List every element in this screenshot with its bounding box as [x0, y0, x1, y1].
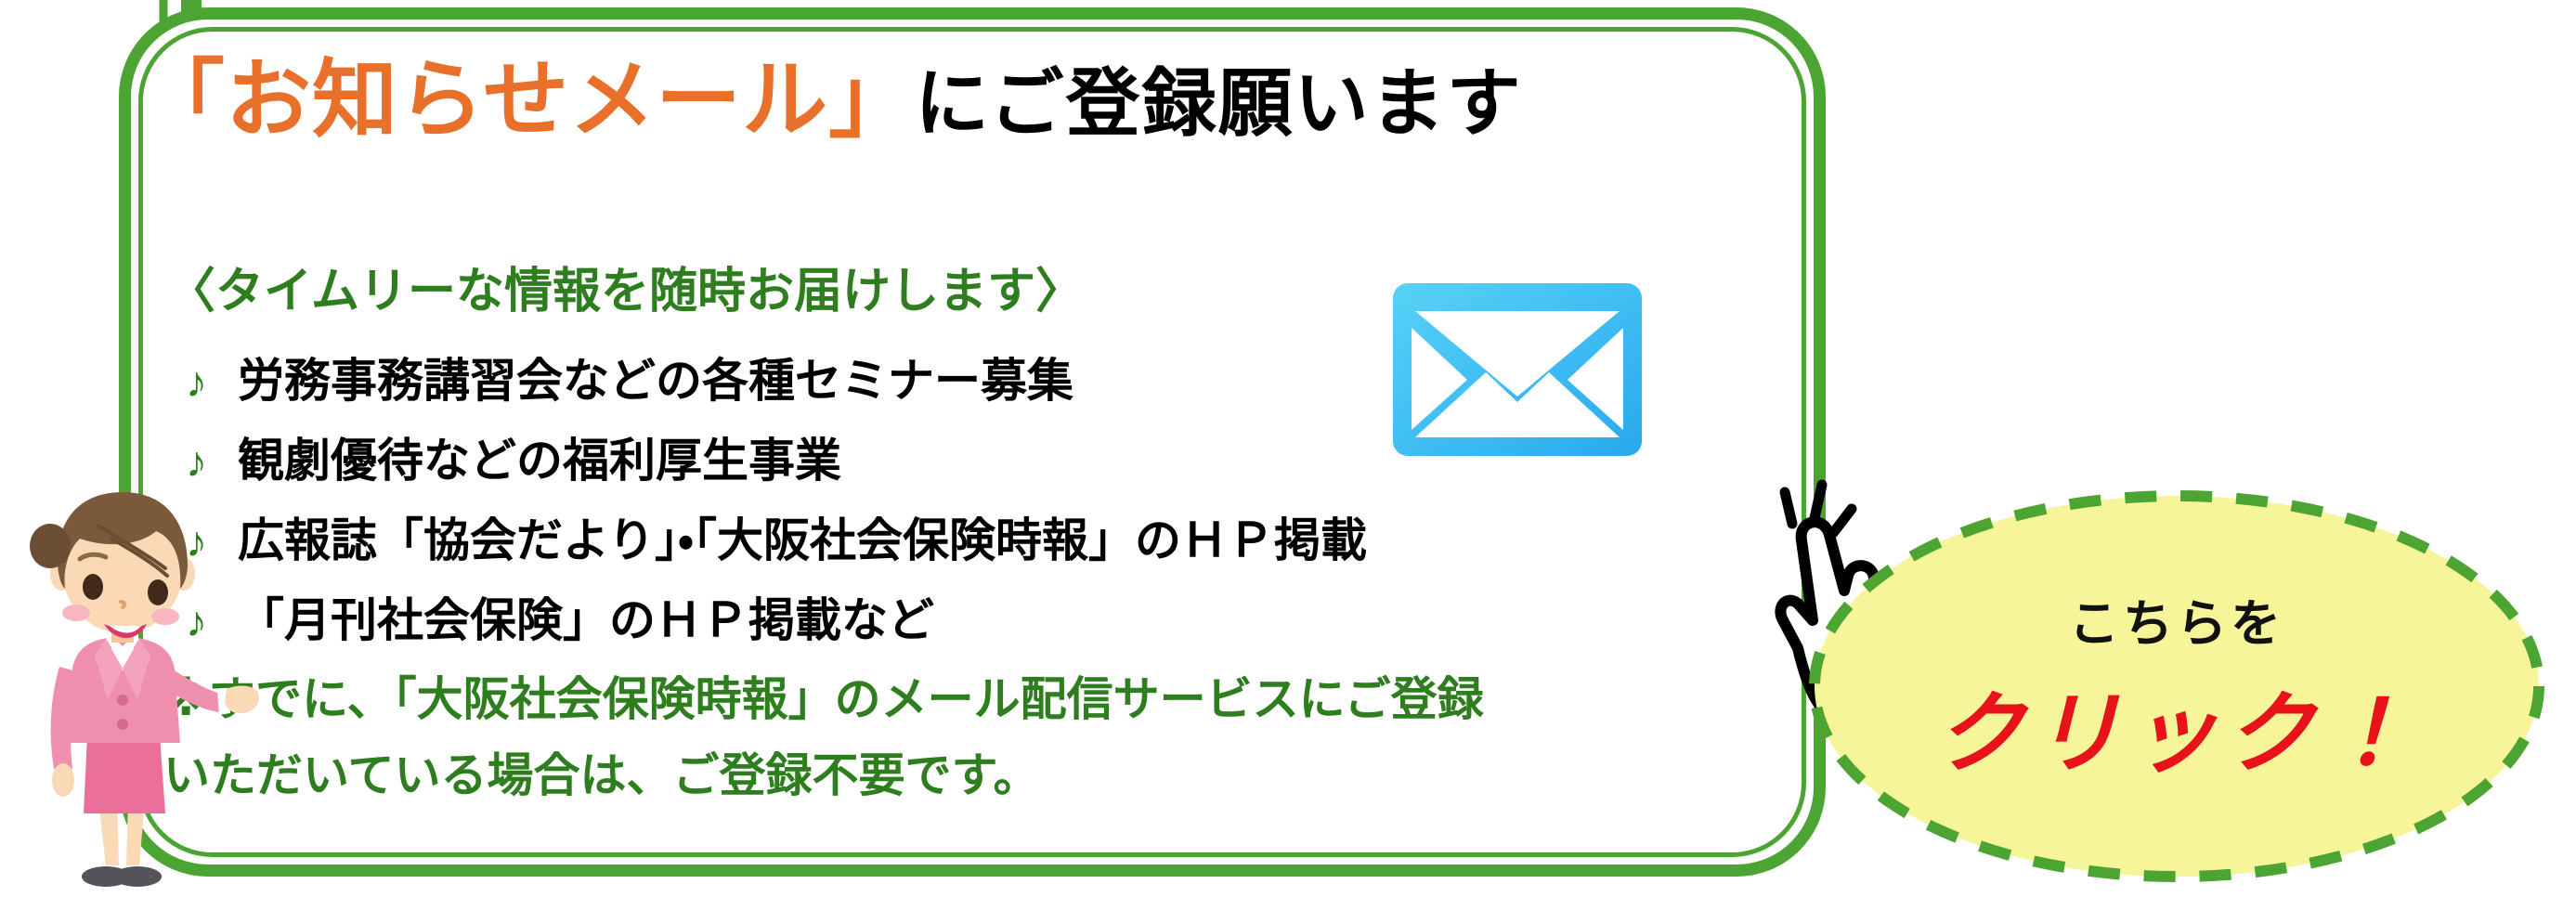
- banner-root: 「お知らせメール」にご登録願います 〈タイムリーな情報を随時お届けします〉 ♪ …: [0, 0, 2576, 897]
- list-item-label: 「月刊社会保険」のＨＰ掲載など: [238, 583, 934, 650]
- callout-ellipse-shape: [1805, 487, 2548, 886]
- music-note-icon: ♪: [186, 357, 238, 407]
- footnote-line-1: ※すでに、「大阪社会保険時報」のメール配信サービスにご登録: [163, 661, 1484, 737]
- businesswoman-illustration: [2, 457, 262, 897]
- list-item: ♪ 観劇優待などの福利厚生事業: [186, 423, 1393, 503]
- list-item: ♪ 「月刊社会保険」のＨＰ掲載など: [186, 583, 1393, 663]
- list-item: ♪ 広報誌「協会だより」・「大阪社会保険時報」のＨＰ掲載: [186, 503, 1393, 583]
- list-item: ♪ 労務事務講習会などの各種セミナー募集: [186, 344, 1393, 423]
- envelope-icon: [1393, 283, 1642, 456]
- subtitle: 〈タイムリーな情報を随時お届けします〉: [167, 267, 1084, 316]
- page-title-rest: にご登録願います: [915, 62, 1522, 145]
- footnote: ※すでに、「大阪社会保険時報」のメール配信サービスにご登録 いただいている場合は…: [163, 661, 1484, 813]
- click-here-callout[interactable]: こちらを クリック！: [1805, 487, 2548, 886]
- list-item-label: 観劇優待などの福利厚生事業: [238, 423, 841, 490]
- page-title-quoted: 「お知らせメール」: [139, 53, 915, 148]
- page-title: 「お知らせメール」にご登録願います: [139, 58, 1523, 143]
- list-item-label: 労務事務講習会などの各種セミナー募集: [238, 344, 1073, 410]
- footnote-line-2: いただいている場合は、ご登録不要です。: [163, 737, 1484, 813]
- list-item-label: 広報誌「協会だより」・「大阪社会保険時報」のＨＰ掲載: [238, 503, 1367, 570]
- feature-list: ♪ 労務事務講習会などの各種セミナー募集 ♪ 観劇優待などの福利厚生事業 ♪ 広…: [186, 344, 1393, 663]
